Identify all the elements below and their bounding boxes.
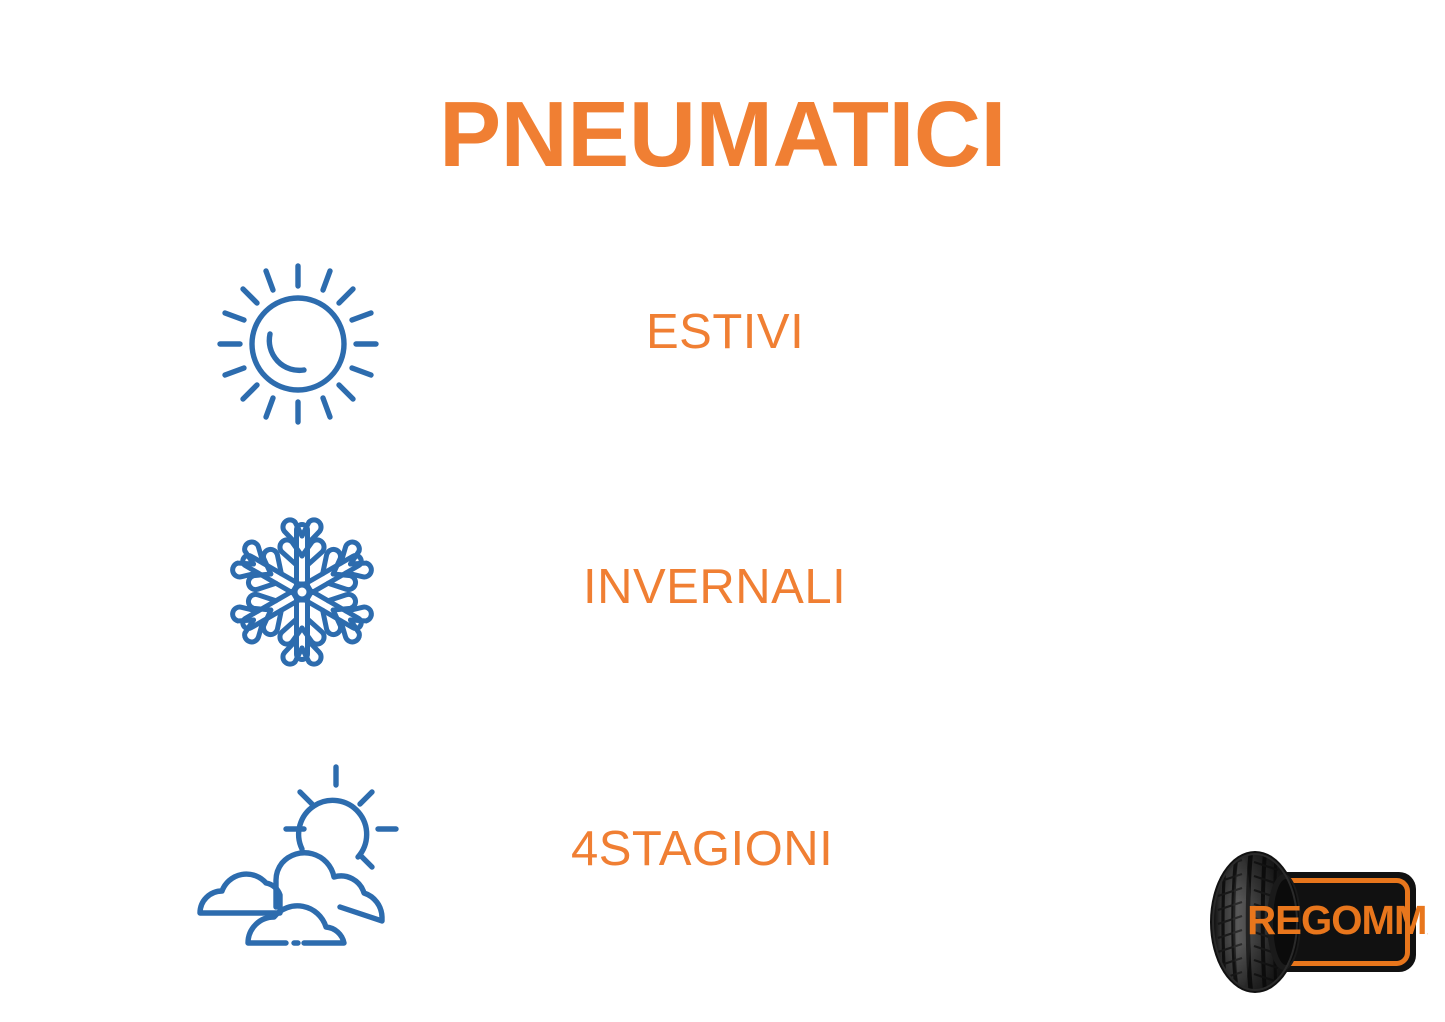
brand-logo-regomma[interactable]: REGOMMA: [1196, 848, 1428, 996]
row-estivi: ESTIVI: [0, 252, 1445, 452]
sun-icon: [212, 260, 384, 428]
logo-wordmark: REGOMMA: [1247, 897, 1428, 943]
snowflake-icon: [218, 501, 386, 683]
row-invernali: INVERNALI: [0, 495, 1445, 695]
label-4stagioni: 4STAGIONI: [571, 825, 833, 874]
label-estivi: ESTIVI: [646, 308, 804, 357]
slide-canvas: PNEUMATICI: [0, 0, 1445, 1022]
label-invernali: INVERNALI: [583, 563, 846, 612]
sun-behind-clouds-icon: [190, 761, 414, 951]
page-title: PNEUMATICI: [0, 88, 1445, 181]
